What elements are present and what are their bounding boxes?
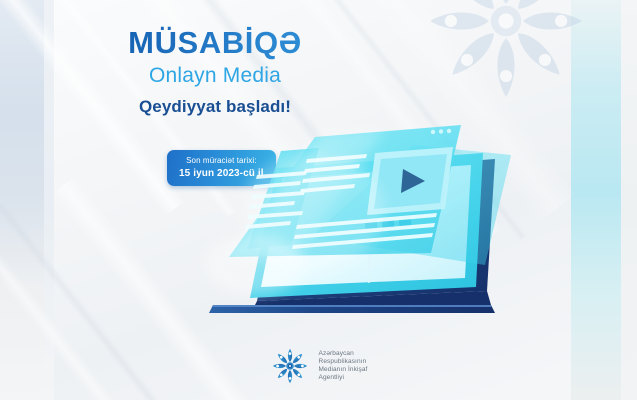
rosette-flower-icon xyxy=(270,346,310,386)
page-cta-text: Qeydiyyat başladı! xyxy=(0,97,430,117)
page-title: MÜSABİQƏ xyxy=(0,26,430,60)
agency-logo-line-1: Azərbaycan xyxy=(319,350,368,358)
promo-poster: MÜSABİQƏ Onlayn Media Qeydiyyat başladı!… xyxy=(0,0,637,400)
agency-logo-line-4: Agentliyi xyxy=(319,374,368,382)
agency-logo: Azərbaycan Respublikasının Medianın İnki… xyxy=(0,346,637,386)
agency-logo-text: Azərbaycan Respublikasının Medianın İnki… xyxy=(319,350,368,383)
right-accent-band-edge xyxy=(621,0,637,400)
page-subtitle: Onlayn Media xyxy=(0,64,430,88)
agency-logo-line-3: Medianın İnkişaf xyxy=(319,366,368,374)
laptop-illustration xyxy=(195,115,535,330)
agency-logo-line-2: Respublikasının xyxy=(319,358,368,366)
headline-block: MÜSABİQƏ Onlayn Media Qeydiyyat başladı! xyxy=(0,26,430,117)
